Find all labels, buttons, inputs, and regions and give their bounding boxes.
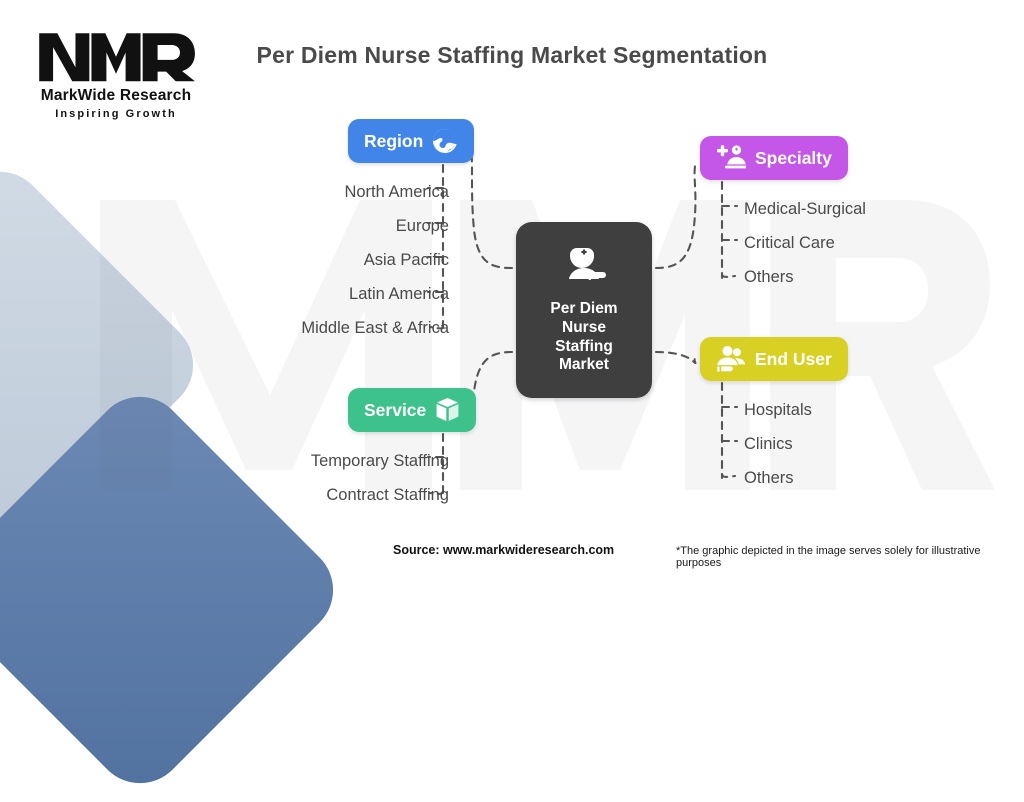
central-node-line-2: Nurse [550, 319, 617, 338]
branch-pill-specialty[interactable]: Specialty [700, 136, 848, 180]
list-item: Temporary Staffing [311, 444, 449, 478]
list-item: Clinics [744, 427, 812, 461]
list-item: Hospitals [744, 393, 812, 427]
branch-pill-region[interactable]: Region [348, 119, 474, 163]
branch-items-service: Temporary Staffing Contract Staffing [311, 444, 449, 512]
branch-label-specialty: Specialty [755, 148, 832, 169]
box-icon [435, 397, 460, 423]
list-item: Asia Pacific [301, 243, 449, 277]
list-item: Europe [301, 209, 449, 243]
branch-label-region: Region [364, 131, 423, 152]
nurse-icon [560, 245, 608, 292]
branch-items-specialty: Medical-Surgical Critical Care Others [744, 192, 866, 294]
central-node-line-3: Staffing [550, 338, 617, 357]
list-item: Latin America [301, 277, 449, 311]
list-item: Medical-Surgical [744, 192, 866, 226]
list-item: Critical Care [744, 226, 866, 260]
branch-items-enduser: Hospitals Clinics Others [744, 393, 812, 495]
list-item: Middle East & Africa [301, 311, 449, 345]
list-item: North America [301, 175, 449, 209]
central-node-line-4: Market [550, 356, 617, 375]
central-node[interactable]: Per Diem Nurse Staffing Market [516, 222, 652, 398]
users-icon [716, 345, 746, 373]
disclaimer-text: *The graphic depicted in the image serve… [676, 545, 1024, 569]
branch-pill-service[interactable]: Service [348, 388, 476, 432]
branch-items-region: North America Europe Asia Pacific Latin … [301, 175, 449, 345]
central-node-line-1: Per Diem [550, 300, 617, 319]
branch-label-enduser: End User [755, 349, 832, 370]
central-node-label: Per Diem Nurse Staffing Market [550, 300, 617, 376]
medical-staff-icon [716, 144, 746, 172]
infographic-canvas: MarkWide Research Inspiring Growth Per D… [0, 0, 1024, 576]
branch-pill-enduser[interactable]: End User [700, 337, 848, 381]
list-item: Contract Staffing [311, 478, 449, 512]
connector-lines [0, 0, 1024, 576]
branch-label-service: Service [364, 400, 426, 421]
list-item: Others [744, 461, 812, 495]
list-item: Others [744, 260, 866, 294]
globe-icon [432, 128, 458, 154]
source-text: Source: www.markwideresearch.com [393, 543, 614, 557]
